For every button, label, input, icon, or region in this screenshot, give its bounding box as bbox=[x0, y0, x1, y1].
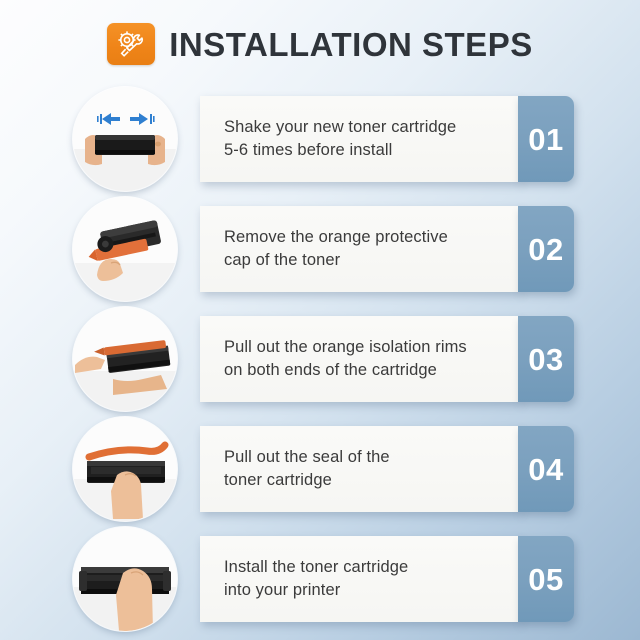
installation-steps-infographic: INSTALLATION STEPS bbox=[0, 0, 640, 640]
step-number-badge: 02 bbox=[518, 206, 574, 292]
step-text: Shake your new toner cartridge 5-6 times… bbox=[200, 116, 466, 162]
step-card: Install the toner cartridge into your pr… bbox=[200, 536, 520, 622]
hand-installing-cartridge-in-printer-icon bbox=[73, 527, 177, 631]
step-text-line2: 5-6 times before install bbox=[224, 139, 456, 162]
step-card: Remove the orange protective cap of the … bbox=[200, 206, 520, 292]
step-number: 01 bbox=[528, 124, 563, 155]
step-card: Pull out the seal of the toner cartridge bbox=[200, 426, 520, 512]
step-text-line2: on both ends of the cartridge bbox=[224, 359, 467, 382]
hand-pulling-seal-strip-icon bbox=[73, 417, 177, 521]
step-number-badge: 05 bbox=[518, 536, 574, 622]
gear-wrench-icon bbox=[107, 23, 155, 65]
step-number-badge: 03 bbox=[518, 316, 574, 402]
step-text-line2: cap of the toner bbox=[224, 249, 448, 272]
step-row: Remove the orange protective cap of the … bbox=[0, 194, 640, 304]
step-text-line1: Pull out the seal of the bbox=[224, 446, 390, 469]
step-row: Pull out the orange isolation rims on bo… bbox=[0, 304, 640, 414]
step-text: Install the toner cartridge into your pr… bbox=[200, 556, 418, 602]
hands-shaking-toner-cartridge-icon bbox=[73, 87, 177, 191]
step-card: Pull out the orange isolation rims on bo… bbox=[200, 316, 520, 402]
step-text: Pull out the seal of the toner cartridge bbox=[200, 446, 400, 492]
step-text-line1: Remove the orange protective bbox=[224, 226, 448, 249]
step-number: 05 bbox=[528, 564, 563, 595]
step-number-badge: 04 bbox=[518, 426, 574, 512]
step-number: 03 bbox=[528, 344, 563, 375]
header: INSTALLATION STEPS bbox=[0, 14, 640, 74]
step-text-line1: Shake your new toner cartridge bbox=[224, 116, 456, 139]
step-number: 02 bbox=[528, 234, 563, 265]
step-card: Shake your new toner cartridge 5-6 times… bbox=[200, 96, 520, 182]
step-text: Pull out the orange isolation rims on bo… bbox=[200, 336, 477, 382]
step-row: Pull out the seal of the toner cartridge… bbox=[0, 414, 640, 524]
hands-pulling-isolation-rim-icon bbox=[73, 307, 177, 411]
steps-list: Shake your new toner cartridge 5-6 times… bbox=[0, 84, 640, 634]
step-text-line2: toner cartridge bbox=[224, 469, 390, 492]
step-row: Install the toner cartridge into your pr… bbox=[0, 524, 640, 634]
step-text-line2: into your printer bbox=[224, 579, 408, 602]
hand-removing-orange-cap-icon bbox=[73, 197, 177, 301]
step-number-badge: 01 bbox=[518, 96, 574, 182]
step-number: 04 bbox=[528, 454, 563, 485]
step-text: Remove the orange protective cap of the … bbox=[200, 226, 458, 272]
step-row: Shake your new toner cartridge 5-6 times… bbox=[0, 84, 640, 194]
step-text-line1: Pull out the orange isolation rims bbox=[224, 336, 467, 359]
page-title: INSTALLATION STEPS bbox=[169, 28, 532, 61]
step-text-line1: Install the toner cartridge bbox=[224, 556, 408, 579]
